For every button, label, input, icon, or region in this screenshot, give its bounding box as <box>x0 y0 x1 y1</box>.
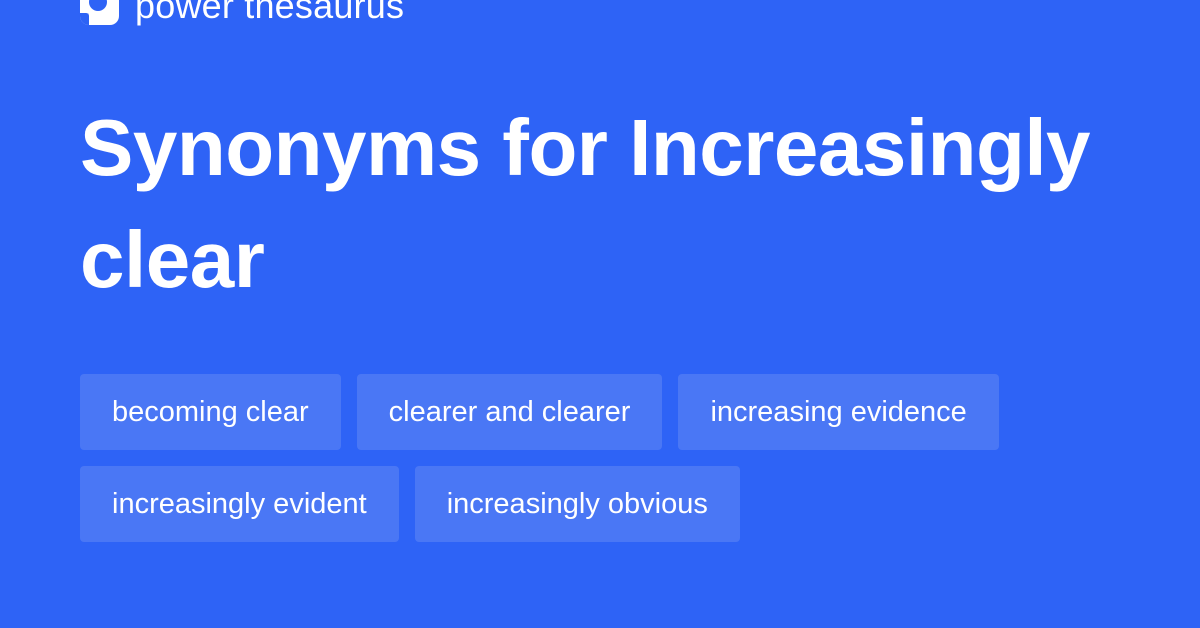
synonym-tag[interactable]: clearer and clearer <box>357 374 663 450</box>
synonym-tag[interactable]: increasing evidence <box>678 374 998 450</box>
logo-stem-shadow <box>80 13 89 25</box>
power-thesaurus-p-logo-icon <box>80 0 119 25</box>
synonym-tag[interactable]: increasingly evident <box>80 466 399 542</box>
logo-counter-shape <box>89 0 107 11</box>
brand-logo[interactable]: power thesaurus <box>80 0 404 25</box>
page-title: Synonyms for Increasingly clear <box>80 92 1140 316</box>
synonym-tag-list: becoming clear clearer and clearer incre… <box>80 374 1140 542</box>
synonym-tag[interactable]: becoming clear <box>80 374 341 450</box>
synonym-tag[interactable]: increasingly obvious <box>415 466 740 542</box>
social-share-card: power thesaurus Synonyms for Increasingl… <box>0 0 1200 628</box>
brand-name-label: power thesaurus <box>135 0 404 24</box>
